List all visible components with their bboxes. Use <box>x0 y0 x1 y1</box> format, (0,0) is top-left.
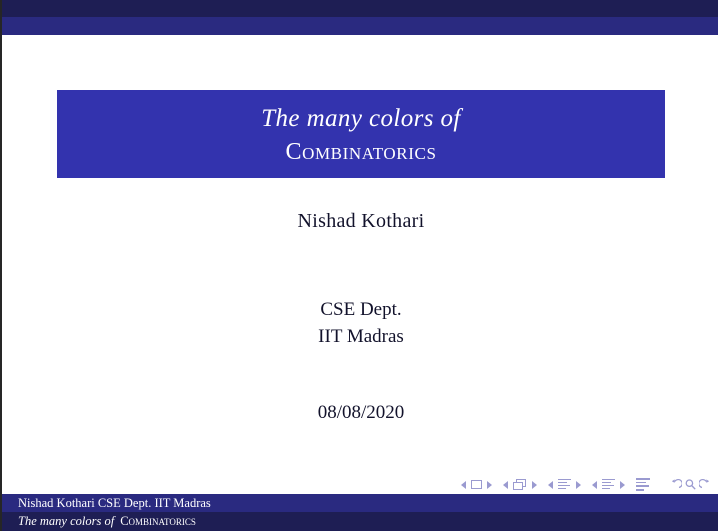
previous-section-icon[interactable] <box>592 479 599 490</box>
previous-subsection-icon[interactable] <box>548 479 555 490</box>
search-icon[interactable] <box>684 478 697 491</box>
presentation-slide: The many colors of Combinatorics Nishad … <box>0 0 718 531</box>
institute-department: CSE Dept. <box>2 296 718 323</box>
forward-icon[interactable] <box>699 478 712 491</box>
previous-frame-icon[interactable] <box>503 479 510 490</box>
footer-title-smallcaps: Combinatorics <box>120 514 196 529</box>
header-band-mid <box>2 17 718 35</box>
nav-group-frame[interactable] <box>503 479 537 490</box>
previous-slide-icon[interactable] <box>461 479 468 490</box>
back-icon[interactable] <box>669 478 682 491</box>
footer-title-italic: The many colors of <box>18 514 114 529</box>
subsection-icon[interactable] <box>558 479 571 490</box>
beamer-navigation-symbols[interactable] <box>461 473 712 495</box>
document-icon[interactable] <box>636 478 650 490</box>
nav-group-subsection[interactable] <box>548 479 581 490</box>
nav-group-slide[interactable] <box>461 479 492 490</box>
institute-block: CSE Dept. IIT Madras <box>2 296 718 350</box>
next-frame-icon[interactable] <box>530 479 537 490</box>
presentation-date: 08/08/2020 <box>2 402 718 424</box>
header-band-dark <box>2 0 718 17</box>
presentation-title-line-1: The many colors of <box>261 104 461 134</box>
section-icon[interactable] <box>602 479 615 490</box>
nav-group-section[interactable] <box>592 479 625 490</box>
author-name: Nishad Kothari <box>2 210 718 233</box>
footer-title-bar: The many colors of Combinatorics <box>2 512 718 531</box>
nav-group-history[interactable] <box>669 478 712 491</box>
frame-icon[interactable] <box>513 479 527 490</box>
slide-icon[interactable] <box>471 480 482 489</box>
footer-author-text: Nishad Kothari CSE Dept. IIT Madras <box>18 496 211 511</box>
title-block: The many colors of Combinatorics <box>57 90 665 178</box>
institute-organization: IIT Madras <box>2 323 718 350</box>
presentation-title-line-2: Combinatorics <box>285 138 436 166</box>
next-slide-icon[interactable] <box>485 479 492 490</box>
footer-author-bar: Nishad Kothari CSE Dept. IIT Madras <box>2 494 718 512</box>
next-section-icon[interactable] <box>618 479 625 490</box>
next-subsection-icon[interactable] <box>574 479 581 490</box>
